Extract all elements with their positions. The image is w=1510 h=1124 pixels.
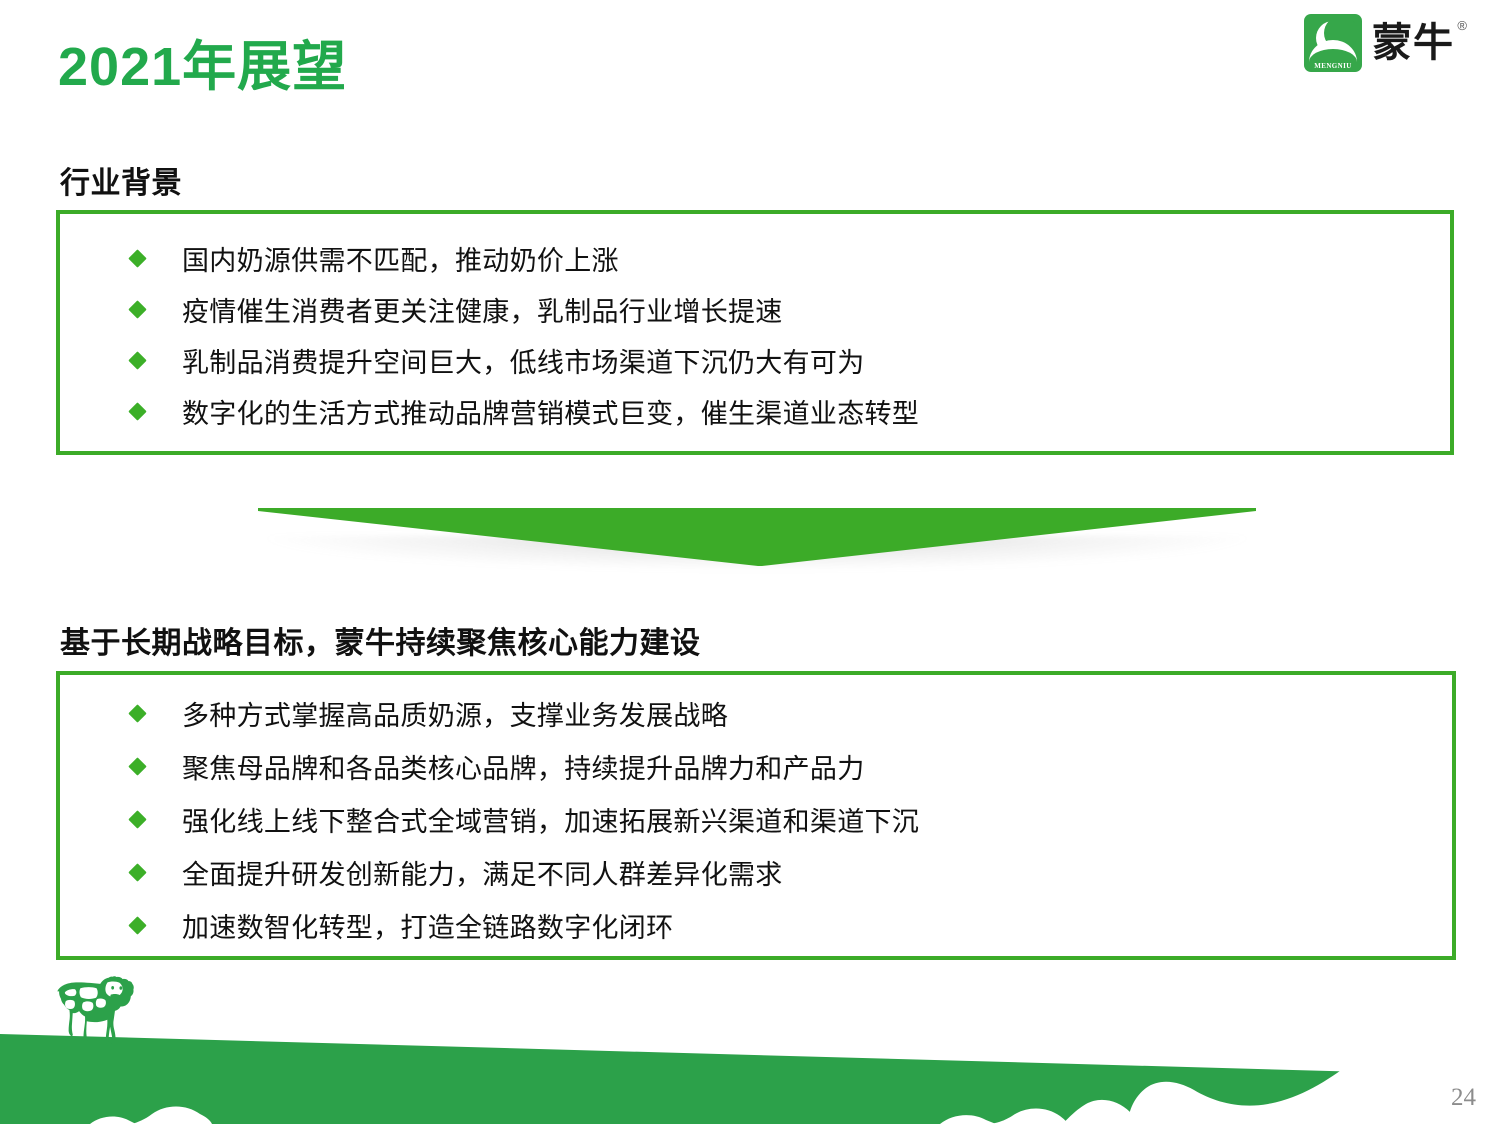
diamond-bullet-icon (128, 863, 146, 881)
mengniu-logo-mark-icon: MENGNIU (1304, 14, 1362, 72)
bullet-text: 聚焦母品牌和各品类核心品牌，持续提升品牌力和产品力 (182, 744, 865, 794)
bullet-text: 疫情催生消费者更关注健康，乳制品行业增长提速 (182, 287, 783, 337)
diamond-bullet-icon (128, 402, 146, 420)
diamond-bullet-icon (128, 916, 146, 934)
page-title: 2021年展望 (58, 38, 347, 97)
list-item: 乳制品消费提升空间巨大，低线市场渠道下沉仍大有可为 (60, 338, 1450, 389)
list-item: 国内奶源供需不匹配，推动奶价上涨 (60, 236, 1450, 287)
slide-canvas: MENGNIU 蒙牛 ® 2021年展望 行业背景 国内奶源供需不匹配，推动奶价… (0, 0, 1510, 1124)
bullet-text: 国内奶源供需不匹配，推动奶价上涨 (182, 236, 619, 286)
diamond-bullet-icon (128, 300, 146, 318)
diamond-bullet-icon (128, 704, 146, 722)
logo-brand-name: 蒙牛 ® (1372, 23, 1468, 63)
bullet-text: 多种方式掌握高品质奶源，支撑业务发展战略 (182, 691, 728, 741)
bullet-text: 全面提升研发创新能力，满足不同人群差异化需求 (182, 850, 783, 900)
cow-silhouette-icon (57, 976, 133, 1046)
bottom-decoration: 24 (0, 964, 1510, 1124)
list-item: 强化线上线下整合式全域营销，加速拓展新兴渠道和渠道下沉 (60, 797, 1452, 850)
list-item: 聚焦母品牌和各品类核心品牌，持续提升品牌力和产品力 (60, 744, 1452, 797)
bullet-text: 乳制品消费提升空间巨大，低线市场渠道下沉仍大有可为 (182, 338, 865, 388)
diamond-bullet-icon (128, 757, 146, 775)
list-item: 全面提升研发创新能力，满足不同人群差异化需求 (60, 850, 1452, 903)
mengniu-logo: MENGNIU 蒙牛 ® (1304, 14, 1468, 72)
bullet-text: 加速数智化转型，打造全链路数字化闭环 (182, 903, 673, 953)
strategy-focus-box: 多种方式掌握高品质奶源，支撑业务发展战略 聚焦母品牌和各品类核心品牌，持续提升品… (56, 671, 1456, 960)
list-item: 疫情催生消费者更关注健康，乳制品行业增长提速 (60, 287, 1450, 338)
list-item: 多种方式掌握高品质奶源，支撑业务发展战略 (60, 691, 1452, 744)
section-header-industry-background: 行业背景 (60, 158, 182, 202)
diamond-bullet-icon (128, 810, 146, 828)
down-chevron-arrow (258, 500, 1256, 580)
bullet-text: 强化线上线下整合式全域营销，加速拓展新兴渠道和渠道下沉 (182, 797, 919, 847)
list-item: 数字化的生活方式推动品牌营销模式巨变，催生渠道业态转型 (60, 389, 1450, 440)
registered-trademark-icon: ® (1457, 19, 1468, 32)
logo-mark-text: MENGNIU (1304, 62, 1362, 70)
diamond-bullet-icon (128, 249, 146, 267)
bottom-decoration-graphic (0, 964, 1510, 1124)
diamond-bullet-icon (128, 351, 146, 369)
list-item: 加速数智化转型，打造全链路数字化闭环 (60, 903, 1452, 956)
bullet-text: 数字化的生活方式推动品牌营销模式巨变，催生渠道业态转型 (182, 389, 919, 439)
logo-brand-text: 蒙牛 (1372, 21, 1454, 65)
section-header-strategy: 基于长期战略目标，蒙牛持续聚焦核心能力建设 (60, 618, 701, 662)
down-chevron-arrow-icon (258, 500, 1256, 580)
page-number: 24 (1451, 1084, 1476, 1112)
industry-background-box: 国内奶源供需不匹配，推动奶价上涨 疫情催生消费者更关注健康，乳制品行业增长提速 … (56, 210, 1454, 455)
